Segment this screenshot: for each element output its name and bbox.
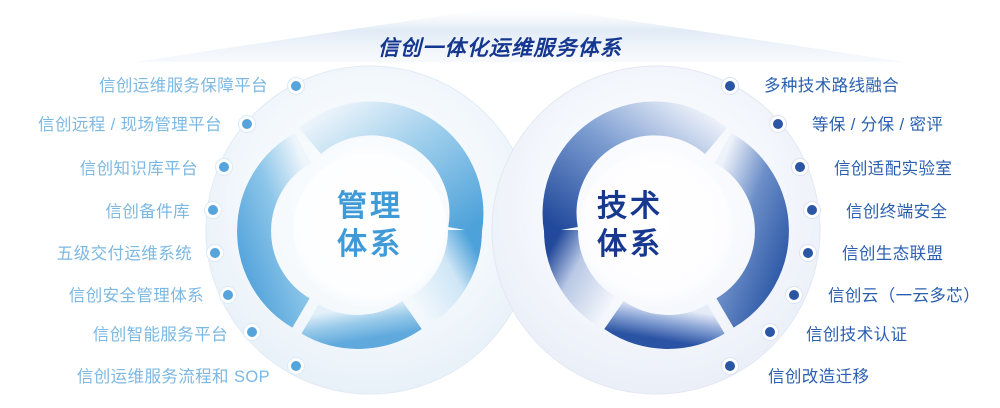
right-item-label[interactable]: 信创云（一云多芯） <box>828 288 1000 305</box>
right-center-line-1: 技术 <box>540 188 720 226</box>
connector-dot[interactable] <box>725 81 735 91</box>
connector-dot[interactable] <box>223 290 233 300</box>
left-item-label[interactable]: 信创远程 / 现场管理平台 <box>0 117 222 134</box>
left-item-label[interactable]: 信创运维服务保障平台 <box>0 78 268 95</box>
right-item-label[interactable]: 信创生态联盟 <box>842 246 1000 263</box>
left-item-label[interactable]: 信创安全管理体系 <box>0 288 204 305</box>
right-item-label[interactable]: 信创适配实验室 <box>834 161 1000 178</box>
connector-dot[interactable] <box>789 290 799 300</box>
right-item-label[interactable]: 信创改造迁移 <box>768 369 1000 386</box>
left-item-label[interactable]: 信创智能服务平台 <box>0 327 228 344</box>
connector-dot[interactable] <box>242 119 252 129</box>
connector-dot[interactable] <box>773 119 783 129</box>
infographic-canvas: 信创一体化运维服务体系 管理 体系 技术 体系 信创运维服务保障平台信创远程 /… <box>0 0 1000 408</box>
right-item-label[interactable]: 信创终端安全 <box>846 204 1000 221</box>
connector-dot[interactable] <box>291 361 301 371</box>
connector-dot[interactable] <box>725 361 735 371</box>
left-item-label[interactable]: 信创备件库 <box>0 204 190 221</box>
left-arc-bottom <box>310 315 412 332</box>
right-item-label[interactable]: 等保 / 分保 / 密评 <box>812 117 1000 134</box>
connector-dot[interactable] <box>210 248 220 258</box>
right-center-line-2: 体系 <box>540 226 720 264</box>
right-item-label[interactable]: 信创技术认证 <box>806 327 1000 344</box>
connector-dot[interactable] <box>803 248 813 258</box>
connector-dot[interactable] <box>795 162 805 172</box>
connector-dot[interactable] <box>208 205 218 215</box>
left-item-label[interactable]: 五级交付运维系统 <box>0 246 192 263</box>
left-wheel-center-label: 管理 体系 <box>280 188 460 263</box>
connector-dot[interactable] <box>219 162 229 172</box>
connector-dot[interactable] <box>765 327 775 337</box>
right-wheel-center-label: 技术 体系 <box>540 188 720 263</box>
left-item-label[interactable]: 信创知识库平台 <box>0 161 198 178</box>
right-item-label[interactable]: 多种技术路线融合 <box>764 78 1000 95</box>
right-arc-bottom <box>614 315 716 332</box>
left-center-line-1: 管理 <box>280 188 460 226</box>
left-item-label[interactable]: 信创运维服务流程和 SOP <box>0 369 270 386</box>
connector-dot[interactable] <box>247 327 257 337</box>
connector-dot[interactable] <box>291 81 301 91</box>
page-title: 信创一体化运维服务体系 <box>0 32 1000 62</box>
left-center-line-2: 体系 <box>280 226 460 264</box>
connector-dot[interactable] <box>807 205 817 215</box>
